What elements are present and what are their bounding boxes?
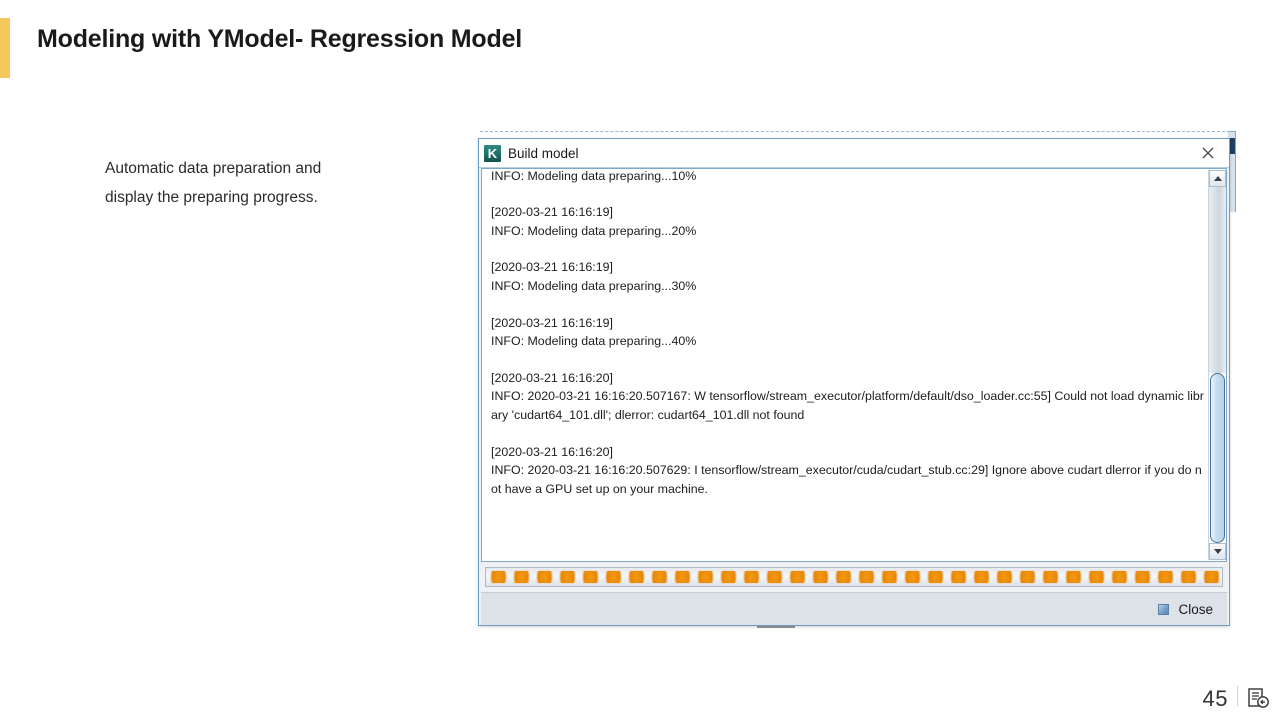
log-entry: [2020-03-21 16:16:20] INFO: 2020-03-21 1… [491,369,1207,425]
log-message: INFO: Modeling data preparing...30% [491,277,1207,296]
log-message: INFO: Modeling data preparing...20% [491,222,1207,241]
progress-chunk [786,569,809,585]
log-message: INFO: 2020-03-21 16:16:20.507629: I tens… [491,461,1207,498]
progress-chunk [671,569,694,585]
scrollbar-track-upper[interactable] [1209,187,1226,373]
progress-chunk [809,569,832,585]
progress-chunk [1200,569,1223,585]
log-timestamp: [2020-03-21 16:16:20] [491,443,1207,462]
progress-chunk [1039,569,1062,585]
build-model-dialog: K Build model [2020-03-21 16:16:19] INFO… [478,138,1230,626]
dialog-title: Build model [508,146,579,161]
progress-chunks [487,569,1223,585]
dialog-titlebar: K Build model [479,139,1229,168]
progress-chunk [970,569,993,585]
log-entry: [2020-03-21 16:16:19] INFO: Modeling dat… [491,258,1207,295]
ymodel-k-icon: K [484,145,501,162]
close-icon[interactable] [1195,139,1221,167]
close-button-label: Close [1178,602,1213,617]
page-number: 45 [1203,686,1228,712]
log-panel: [2020-03-21 16:16:19] INFO: Modeling dat… [481,168,1227,562]
progress-chunk [487,569,510,585]
progress-chunk [1085,569,1108,585]
log-message: INFO: Modeling data preparing...10% [491,170,1207,185]
log-entry: [2020-03-21 16:16:19] INFO: Modeling dat… [491,203,1207,240]
progress-chunk [694,569,717,585]
dialog-footer: Close [481,592,1227,625]
progress-chunk [947,569,970,585]
log-message: INFO: Modeling data preparing...40% [491,332,1207,351]
progress-chunk [901,569,924,585]
log-vertical-scrollbar[interactable] [1208,170,1225,560]
log-scrollport: [2020-03-21 16:16:19] INFO: Modeling dat… [483,170,1209,560]
log-timestamp: [2020-03-21 16:16:20] [491,369,1207,388]
scrollbar-track[interactable] [1209,187,1226,543]
progress-chunk [533,569,556,585]
title-accent-bar [0,18,10,78]
close-button[interactable]: Close [1156,598,1215,620]
log-message: INFO: 2020-03-21 16:16:20.507167: W tens… [491,387,1207,424]
chevron-up-icon [1214,176,1222,181]
scrollbar-thumb[interactable] [1210,373,1225,543]
progress-chunk [740,569,763,585]
progress-chunk [855,569,878,585]
progress-chunk [878,569,901,585]
log-content[interactable]: [2020-03-21 16:16:19] INFO: Modeling dat… [491,170,1207,516]
progress-chunk [602,569,625,585]
chevron-down-icon [1214,549,1222,554]
progress-chunk [1016,569,1039,585]
progress-chunk [1131,569,1154,585]
progress-chunk [579,569,602,585]
blue-square-icon [1158,604,1169,615]
progress-chunk [1108,569,1131,585]
progress-chunk [510,569,533,585]
document-back-arrow-icon[interactable] [1246,686,1270,710]
progress-area [481,564,1227,590]
log-entry: [2020-03-21 16:16:20] INFO: 2020-03-21 1… [491,443,1207,499]
scrollbar-down-button[interactable] [1209,543,1226,560]
progress-chunk [993,569,1016,585]
progress-chunk [1154,569,1177,585]
progress-chunk [717,569,740,585]
progress-chunk [556,569,579,585]
progress-chunk [832,569,855,585]
page-title: Modeling with YModel- Regression Model [37,25,522,54]
indeterminate-progress-bar [485,567,1223,587]
log-timestamp: [2020-03-21 16:16:19] [491,258,1207,277]
log-timestamp: [2020-03-21 16:16:19] [491,314,1207,333]
log-timestamp: [2020-03-21 16:16:19] [491,203,1207,222]
log-entry: [2020-03-21 16:16:19] INFO: Modeling dat… [491,314,1207,351]
progress-chunk [625,569,648,585]
progress-chunk [763,569,786,585]
scrollbar-up-button[interactable] [1209,170,1226,187]
progress-chunk [924,569,947,585]
progress-chunk [648,569,671,585]
log-entry: [2020-03-21 16:16:19] INFO: Modeling dat… [491,170,1207,185]
progress-chunk [1062,569,1085,585]
progress-chunk [1177,569,1200,585]
footer-separator [1237,686,1238,706]
slide-caption: Automatic data preparation and display t… [105,155,365,212]
